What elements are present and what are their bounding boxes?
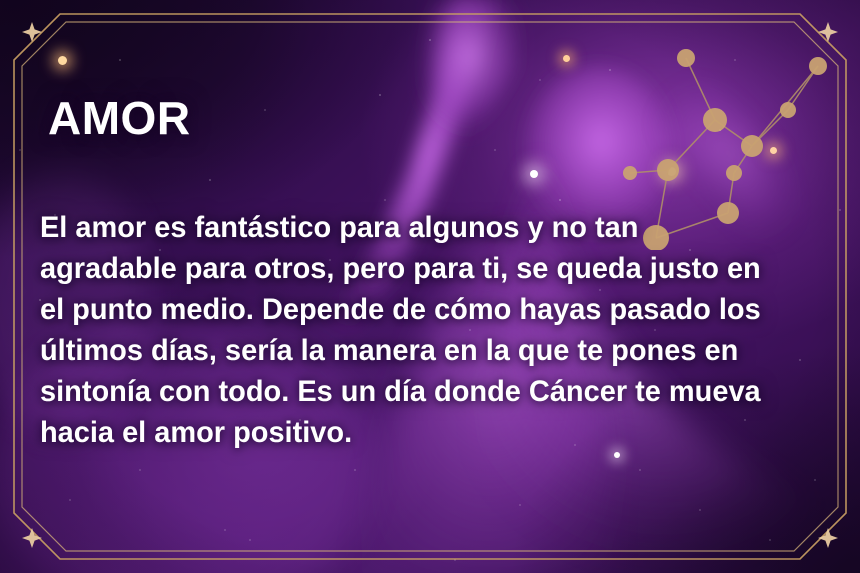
text-content: AMOR El amor es fantástico para algunos … (0, 0, 860, 573)
page-title: AMOR (48, 93, 191, 143)
horoscope-card: AMOR El amor es fantástico para algunos … (0, 0, 860, 573)
horoscope-body-text: El amor es fantástico para algunos y no … (40, 207, 773, 453)
